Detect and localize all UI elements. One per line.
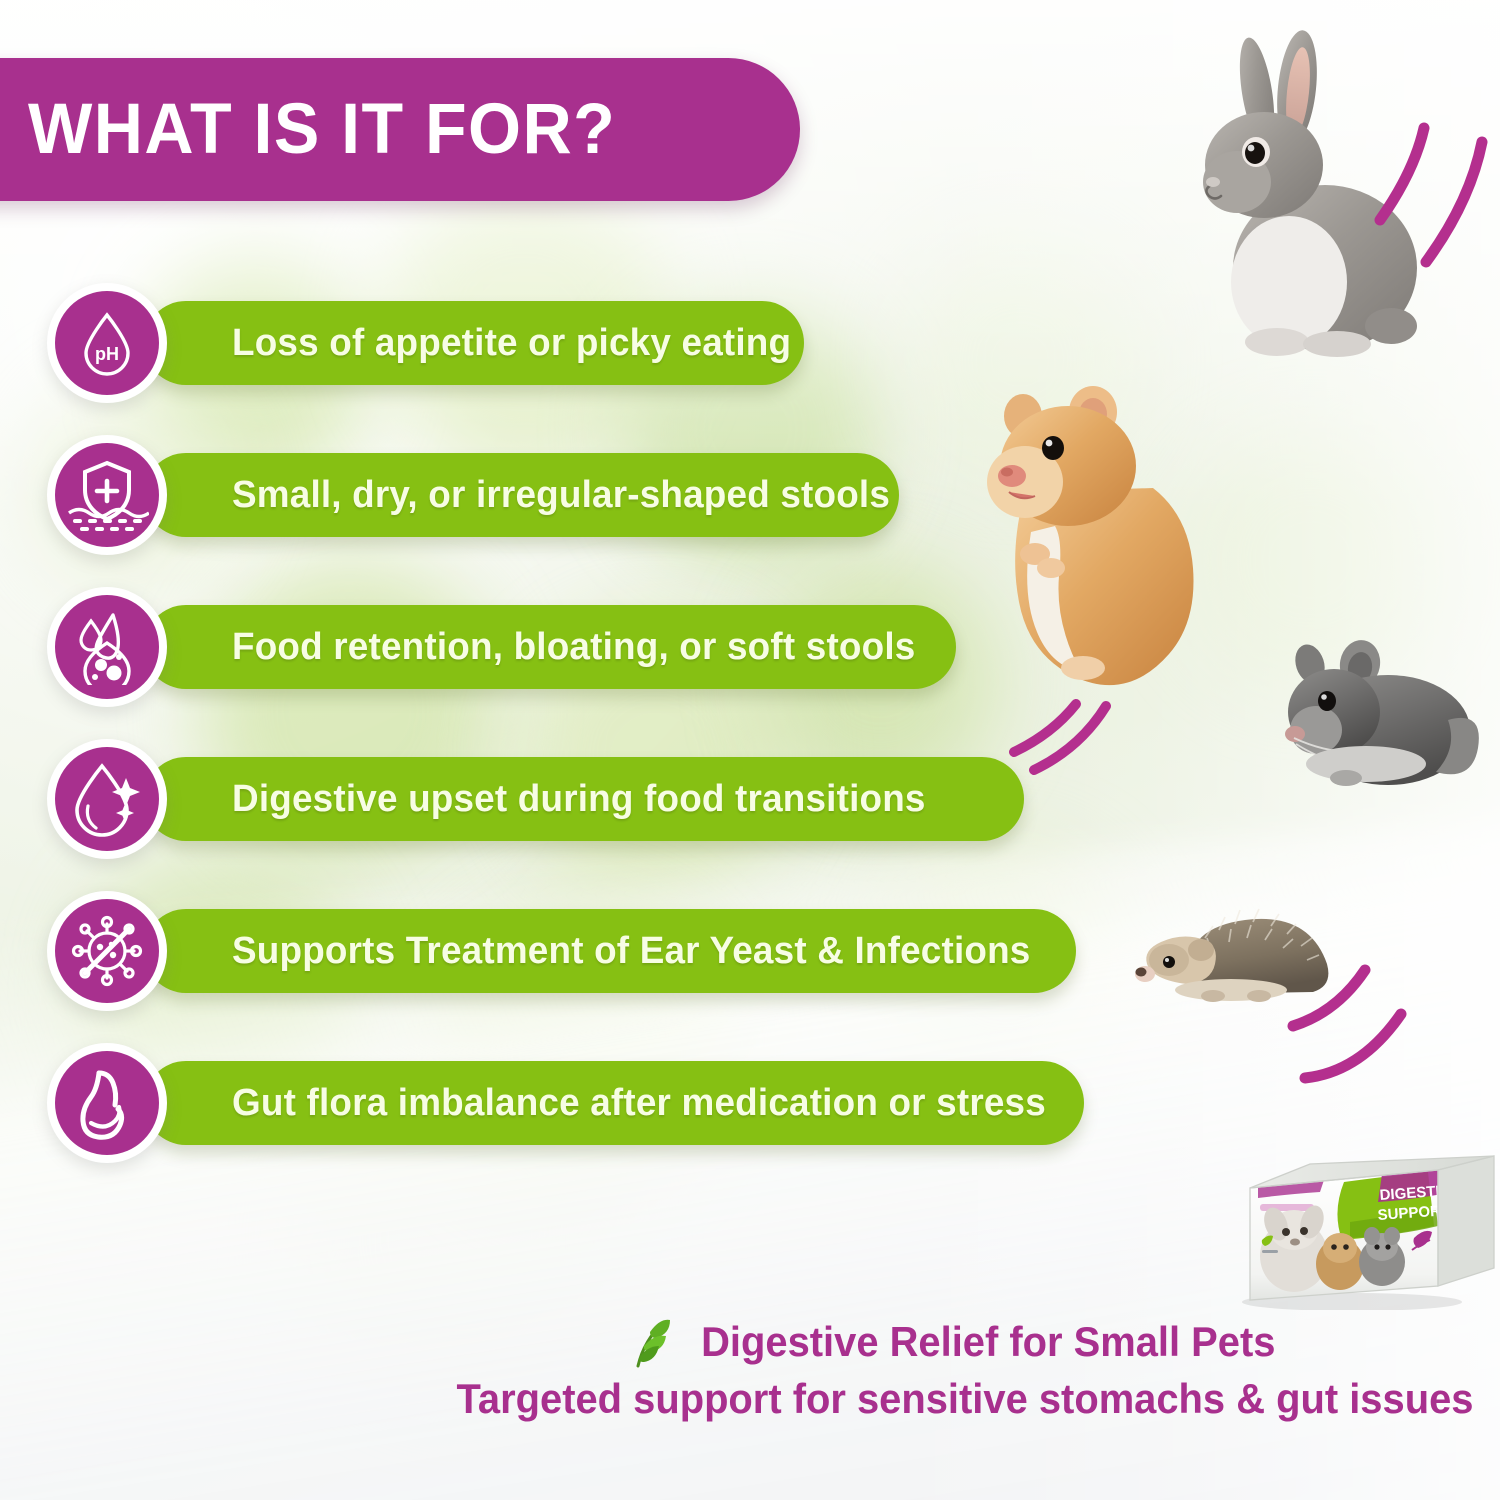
benefit-pill[interactable]: Loss of appetite or picky eating: [144, 301, 804, 385]
benefit-pill[interactable]: Supports Treatment of Ear Yeast & Infect…: [144, 909, 1076, 993]
footer: Digestive Relief for Small Pets Targeted…: [430, 1316, 1490, 1422]
list-item[interactable]: Digestive upset during food transitions: [47, 739, 1127, 891]
signal-arcs-hamster: [1000, 660, 1120, 780]
benefit-icon-badge: [47, 587, 167, 707]
stomach-icon: [55, 1051, 159, 1155]
benefit-label: Small, dry, or irregular-shaped stools: [232, 476, 890, 514]
hamster-photo: [965, 382, 1200, 687]
list-item[interactable]: Supports Treatment of Ear Yeast & Infect…: [47, 891, 1127, 1043]
benefit-pill[interactable]: Food retention, bloating, or soft stools: [144, 605, 956, 689]
benefit-pill[interactable]: Gut flora imbalance after medication or …: [144, 1061, 1084, 1145]
header-banner: WHAT IS IT FOR?: [0, 58, 800, 201]
list-item[interactable]: Gut flora imbalance after medication or …: [47, 1043, 1127, 1195]
benefit-icon-badge: [47, 435, 167, 555]
benefit-label: Gut flora imbalance after medication or …: [232, 1084, 1046, 1122]
infographic-poster: WHAT IS IT FOR? Loss of appetite or pick…: [0, 0, 1500, 1500]
benefit-label: Supports Treatment of Ear Yeast & Infect…: [232, 932, 1030, 970]
chinchilla-photo: [1280, 638, 1485, 798]
signal-arcs-rabbit: [1370, 100, 1500, 270]
ph-droplet-icon: pH: [55, 291, 159, 395]
leaf-sprig-icon: [630, 1316, 672, 1368]
benefit-label: Loss of appetite or picky eating: [232, 324, 791, 362]
droplets-bubbles-icon: [55, 595, 159, 699]
svg-text:pH: pH: [95, 344, 119, 364]
shield-plus-skin-icon: [55, 443, 159, 547]
benefit-icon-badge: [47, 891, 167, 1011]
signal-arcs-hedgehog: [1285, 960, 1435, 1100]
footer-subtitle: Targeted support for sensitive stomachs …: [457, 1376, 1464, 1422]
benefit-icon-badge: [47, 1043, 167, 1163]
footer-headline: Digestive Relief for Small Pets: [701, 1319, 1275, 1365]
benefit-icon-badge: [47, 739, 167, 859]
page-title: WHAT IS IT FOR?: [28, 94, 616, 165]
sparkle-droplet-icon: [55, 747, 159, 851]
no-germ-icon: [55, 899, 159, 1003]
benefit-icon-badge: pH: [47, 283, 167, 403]
benefit-label: Digestive upset during food transitions: [232, 780, 926, 818]
footer-headline-row: Digestive Relief for Small Pets: [430, 1316, 1490, 1368]
benefit-pill[interactable]: Digestive upset during food transitions: [144, 757, 1024, 841]
digestive-support-box[interactable]: DIGESTIVE SUPPORT: [1232, 1152, 1500, 1310]
benefit-pill[interactable]: Small, dry, or irregular-shaped stools: [144, 453, 899, 537]
benefit-label: Food retention, bloating, or soft stools: [232, 628, 915, 666]
